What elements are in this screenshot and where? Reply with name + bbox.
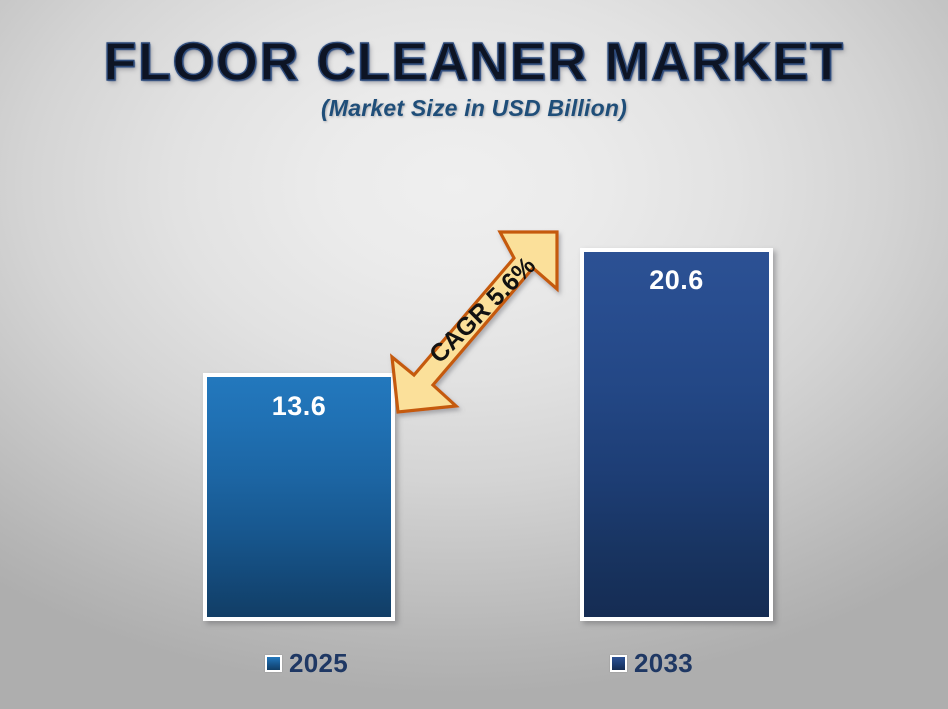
legend-label-2025: 2025	[289, 650, 348, 676]
chart-legend: 2025 2033	[0, 650, 948, 690]
chart-subtitle: (Market Size in USD Billion)	[0, 95, 948, 122]
legend-label-2033: 2033	[634, 650, 693, 676]
chart-title: FLOOR CLEANER MARKET	[0, 34, 948, 91]
legend-item-2033[interactable]: 2033	[610, 650, 693, 676]
legend-swatch-icon-2025	[265, 655, 282, 672]
cagr-label: CAGR 5.6%	[413, 240, 554, 381]
bar-value-2025: 13.6	[207, 391, 391, 422]
chart-canvas: FLOOR CLEANER MARKET (Market Size in USD…	[0, 0, 948, 709]
chart-title-block: FLOOR CLEANER MARKET (Market Size in USD…	[0, 34, 948, 122]
bar-2025[interactable]: 13.6	[203, 373, 395, 621]
legend-swatch-icon-2033	[610, 655, 627, 672]
legend-item-2025[interactable]: 2025	[265, 650, 348, 676]
cagr-growth-arrow-icon	[380, 218, 576, 428]
bar-2033[interactable]: 20.6	[580, 248, 773, 621]
bar-value-2033: 20.6	[584, 265, 769, 296]
